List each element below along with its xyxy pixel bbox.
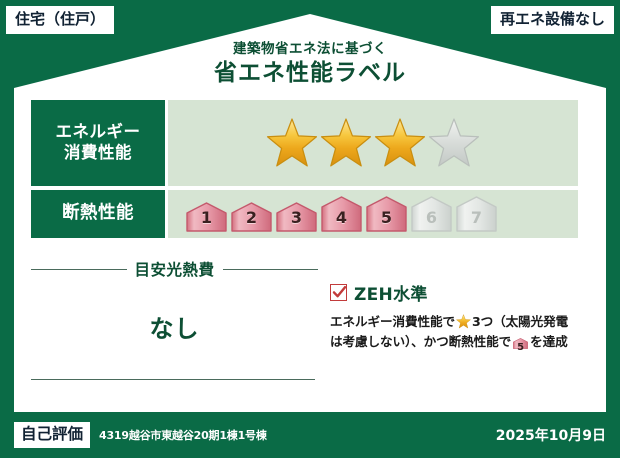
badge-renewable-equipment: 再エネ設備なし: [491, 6, 614, 34]
utility-cost-block: 目安光熱費 なし: [31, 255, 318, 405]
zeh-desc-text-2: 3つ（太陽光発電: [472, 314, 568, 329]
row-energy-label-line1: エネルギー: [56, 122, 141, 143]
insulation-grade-number: 1: [185, 208, 228, 227]
badge-dwelling-type: 住宅（住戸）: [6, 6, 114, 34]
performance-rows: エネルギー 消費性能 断熱性能 1234567: [31, 100, 578, 242]
lower-section: 目安光熱費 なし ZEH水準 エネルギー消費性能で3つ（太陽光発電は考慮しない）…: [31, 255, 578, 405]
insulation-grade-6: 6: [410, 196, 453, 232]
insulation-grade-number: 4: [320, 208, 363, 227]
inline-grade-chip: 5: [513, 336, 528, 356]
label-titles: 建築物省エネ法に基づく 省エネ性能ラベル: [0, 41, 620, 88]
zeh-checkbox[interactable]: [330, 284, 347, 301]
star-filled-icon: [456, 314, 471, 329]
issue-date: 2025年10月9日: [496, 425, 606, 445]
insulation-grade-2: 2: [230, 202, 273, 232]
insulation-grade-number: 2: [230, 208, 273, 227]
insulation-grade-scale: 1234567: [185, 196, 498, 232]
badge-self-evaluation: 自己評価: [14, 422, 90, 449]
star-rating: [266, 117, 480, 169]
insulation-grade-3: 3: [275, 202, 318, 232]
star-filled-icon: [456, 314, 471, 329]
row-energy-label-line2: 消費性能: [64, 143, 132, 164]
property-address: 4319越谷市東越谷20期1棟1号棟: [99, 427, 496, 443]
insulation-grade-5: 5: [365, 196, 408, 232]
star-filled-icon: [320, 117, 372, 169]
insulation-grade-number: 3: [275, 208, 318, 227]
inline-grade-chip-number: 5: [513, 340, 528, 356]
energy-performance-label: 住宅（住戸） 再エネ設備なし 建築物省エネ法に基づく 省エネ性能ラベル エネルギ…: [0, 0, 620, 458]
zeh-desc-text-3: は考慮しない）、かつ断熱性能で: [330, 334, 511, 349]
insulation-grade-number: 7: [455, 208, 498, 227]
row-energy-consumption: エネルギー 消費性能: [31, 100, 578, 186]
insulation-grade-number: 5: [365, 208, 408, 227]
star-filled-icon: [374, 117, 426, 169]
utility-cost-bottom-rule: [31, 379, 315, 380]
check-icon: [332, 285, 347, 300]
insulation-grade-1: 1: [185, 202, 228, 232]
row-energy-value: [168, 100, 578, 186]
row-energy-label: エネルギー 消費性能: [31, 100, 165, 186]
footer-bar: 自己評価 4319越谷市東越谷20期1棟1号棟 2025年10月9日: [0, 412, 620, 458]
page-title: 省エネ性能ラベル: [0, 59, 620, 88]
insulation-grade-4: 4: [320, 196, 363, 232]
utility-cost-value: なし: [31, 309, 318, 344]
star-filled-icon: [266, 117, 318, 169]
zeh-desc-text-4: を達成: [530, 334, 567, 349]
insulation-grade-7: 7: [455, 196, 498, 232]
zeh-title: ZEH水準: [354, 280, 428, 305]
insulation-grade-number: 6: [410, 208, 453, 227]
heading-rule-right: [223, 269, 319, 270]
star-empty-icon: [428, 117, 480, 169]
row-insulation-value: 1234567: [168, 190, 578, 238]
utility-cost-heading-text: 目安光熱費: [135, 258, 215, 280]
subtitle-law-basis: 建築物省エネ法に基づく: [0, 41, 620, 57]
zeh-title-line: ZEH水準: [330, 280, 578, 305]
utility-cost-heading: 目安光熱費: [31, 258, 318, 280]
heading-rule-left: [31, 269, 127, 270]
row-insulation: 断熱性能 1234567: [31, 190, 578, 238]
zeh-description: エネルギー消費性能で3つ（太陽光発電は考慮しない）、かつ断熱性能で5を達成: [330, 312, 578, 357]
zeh-desc-text-1: エネルギー消費性能で: [330, 314, 455, 329]
zeh-block: ZEH水準 エネルギー消費性能で3つ（太陽光発電は考慮しない）、かつ断熱性能で5…: [318, 255, 578, 405]
row-insulation-label: 断熱性能: [31, 190, 165, 238]
